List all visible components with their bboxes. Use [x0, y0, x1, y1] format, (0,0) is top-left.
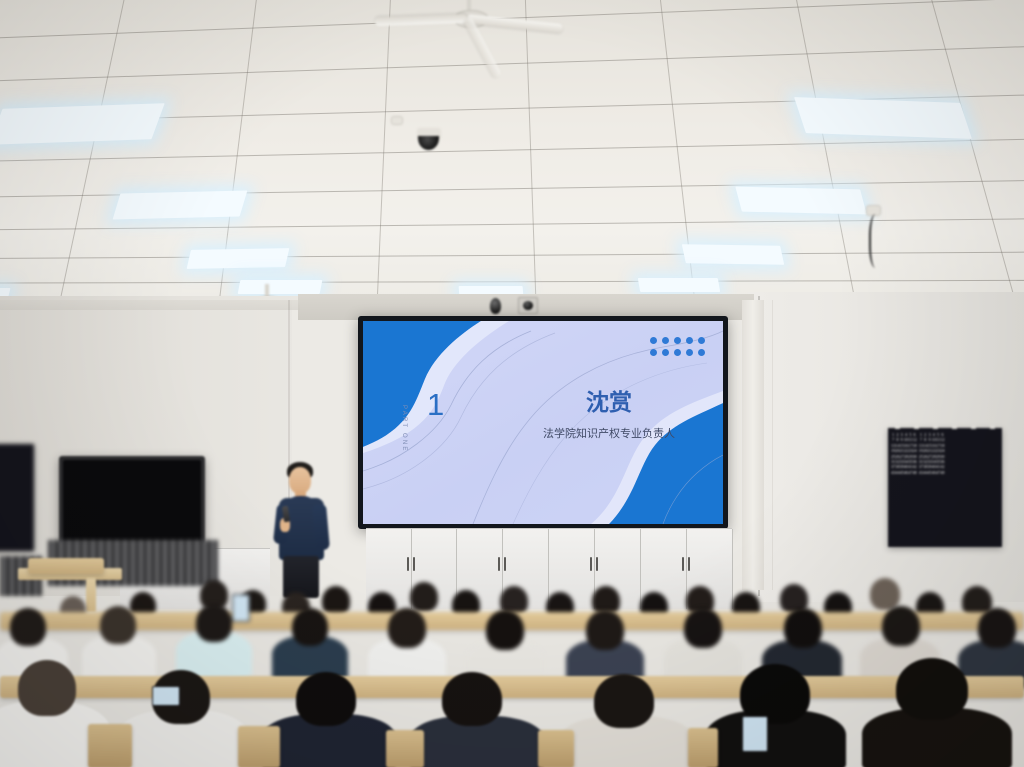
ceiling-light-panel: [0, 103, 164, 145]
slide-part-label: PART ONE: [401, 405, 407, 453]
bench-row-near: [88, 724, 132, 767]
wall-pillar: [742, 300, 764, 590]
dot: [674, 337, 681, 344]
head: [740, 664, 810, 724]
head: [486, 610, 524, 650]
seat-number-chart-left: 6611121718232429303536: [0, 444, 34, 551]
head: [784, 608, 822, 648]
presenter: [270, 462, 340, 596]
head: [100, 606, 136, 644]
seat-number: 48: [912, 470, 916, 475]
seat-number: 48: [940, 470, 944, 475]
ceiling-light-panel: [794, 97, 972, 139]
bench-row-near: [386, 730, 424, 767]
sprinkler-head: [391, 116, 403, 125]
head: [18, 660, 76, 716]
phone[interactable]: [742, 716, 768, 752]
projector-screen: 1 PART ONE 沈赏 法学院知识产权专业负责人: [358, 316, 728, 529]
front-desk-leg: [86, 578, 96, 612]
cabinet-handle[interactable]: [498, 557, 500, 571]
ceiling-light-panel: [186, 248, 289, 269]
head: [978, 608, 1016, 648]
cabinet-handle[interactable]: [688, 557, 690, 571]
presenter-legs: [283, 556, 319, 598]
wall-seam: [772, 300, 773, 590]
head: [586, 610, 624, 650]
dot: [698, 349, 705, 356]
head: [196, 604, 232, 642]
dot: [686, 337, 693, 344]
cabinet-handle[interactable]: [407, 557, 409, 571]
dome-camera-icon: [417, 128, 441, 150]
head: [684, 608, 722, 648]
number-block-right: 1234567891011121314151617181920212223242…: [919, 432, 945, 475]
bench-row-near: [688, 728, 718, 767]
slide-title: 沈赏: [509, 383, 709, 417]
dot: [686, 349, 693, 356]
ceiling: [0, 0, 1024, 330]
ceiling-light-panel: [112, 190, 247, 219]
head: [10, 608, 46, 646]
head: [410, 582, 438, 612]
head: [870, 578, 900, 610]
bench-row-near: [538, 730, 574, 767]
dot: [662, 349, 669, 356]
dot: [662, 337, 669, 344]
bench-row-near: [238, 726, 280, 767]
head: [296, 672, 356, 726]
dot: [698, 337, 705, 344]
head: [896, 658, 968, 720]
hanging-cable: [869, 214, 885, 268]
phone[interactable]: [232, 594, 250, 622]
ceiling-fan: [409, 0, 529, 70]
chart-clips: [888, 425, 1002, 429]
security-camera-icon: [490, 298, 501, 314]
dot: [674, 349, 681, 356]
slide-dot-grid: [650, 337, 705, 356]
cabinet-handle[interactable]: [413, 557, 415, 571]
presenter-arm-right: [312, 503, 330, 550]
cabinet-handle[interactable]: [590, 557, 592, 571]
monitor-screen: [63, 460, 201, 542]
presentation-slide: 1 PART ONE 沈赏 法学院知识产权专业负责人: [363, 321, 723, 524]
dot: [650, 337, 657, 344]
head: [388, 608, 426, 648]
dot: [650, 349, 657, 356]
head: [442, 672, 502, 726]
front-desk-back: [28, 558, 104, 574]
head: [882, 606, 920, 646]
presenter-head: [289, 467, 311, 494]
number-block-left: 1234567891011121314151617181920212223242…: [891, 432, 917, 475]
soffit-band-left: [0, 300, 300, 310]
cabinet-handle[interactable]: [504, 557, 506, 571]
sensor-box-icon: [518, 297, 538, 314]
seat-number-chart: 1234567891011121314151617181920212223242…: [888, 428, 1002, 547]
slide-part-number: 1: [427, 389, 444, 420]
slide-subtitle: 法学院知识产权专业负责人: [499, 425, 719, 441]
ceiling-light-panel: [735, 187, 866, 215]
lecture-hall-photo: 1 PART ONE 沈赏 法学院知识产权专业负责人 1234567891011…: [0, 0, 1024, 767]
wall-monitor[interactable]: [59, 456, 205, 546]
ceiling-light-panel: [637, 278, 719, 292]
phone[interactable]: [152, 686, 180, 706]
cabinet-handle[interactable]: [682, 557, 684, 571]
head: [292, 608, 328, 646]
cabinet-handle[interactable]: [596, 557, 598, 571]
ceiling-light-panel: [681, 244, 783, 265]
head: [594, 674, 654, 728]
